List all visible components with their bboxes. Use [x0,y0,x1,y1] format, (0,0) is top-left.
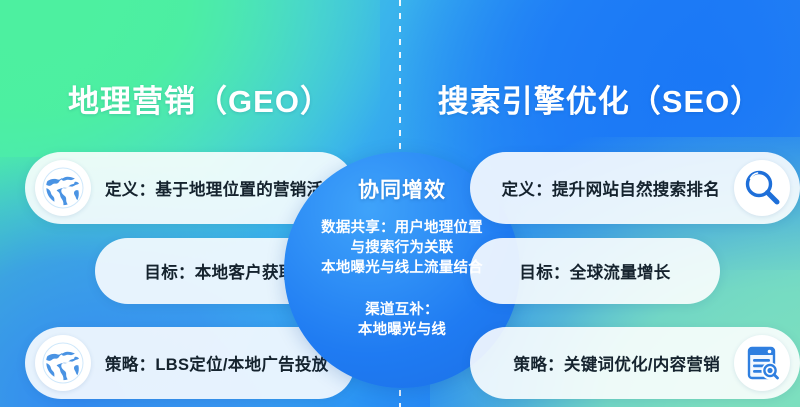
magnifier-icon [734,160,790,216]
hub-line-1: 数据共享：用户地理位置 [321,218,483,238]
hub-body: 数据共享：用户地理位置 与搜索行为关联 本地曝光与线上流量结合 [321,218,483,278]
card-seo-strategy[interactable]: 策略：关键词优化/内容营销 [470,327,800,399]
document-search-icon [734,335,790,391]
card-label: 策略：关键词优化/内容营销 [514,351,720,375]
left-column-title: 地理营销（GEO） [0,76,400,121]
hub-line-2: 与搜索行为关联 [321,238,483,258]
hub-title: 协同增效 [358,174,446,204]
hub-line-5: 本地曝光与线 [358,320,446,340]
card-label: 策略：LBS定位/本地广告投放 [105,351,329,375]
infographic-canvas: 地理营销（GEO） 搜索引擎优化（SEO） 定义：基于地理位置的营销活动 目标：… [0,0,800,407]
hub-line-3: 本地曝光与线上流量结合 [321,258,483,278]
globe-icon [35,160,91,216]
card-label: 定义：基于地理位置的营销活动 [105,176,340,200]
card-label: 目标：本地客户获取 [144,259,295,283]
card-label: 定义：提升网站自然搜索排名 [502,176,720,200]
right-column-title: 搜索引擎优化（SEO） [400,76,800,121]
card-seo-goal[interactable]: 目标：全球流量增长 [470,238,720,304]
hub-line-4: 渠道互补： [358,300,446,320]
hub-subsection: 渠道互补： 本地曝光与线 [358,300,446,340]
globe-icon [35,335,91,391]
card-seo-definition[interactable]: 定义：提升网站自然搜索排名 [470,152,800,224]
card-label: 目标：全球流量增长 [519,259,670,283]
